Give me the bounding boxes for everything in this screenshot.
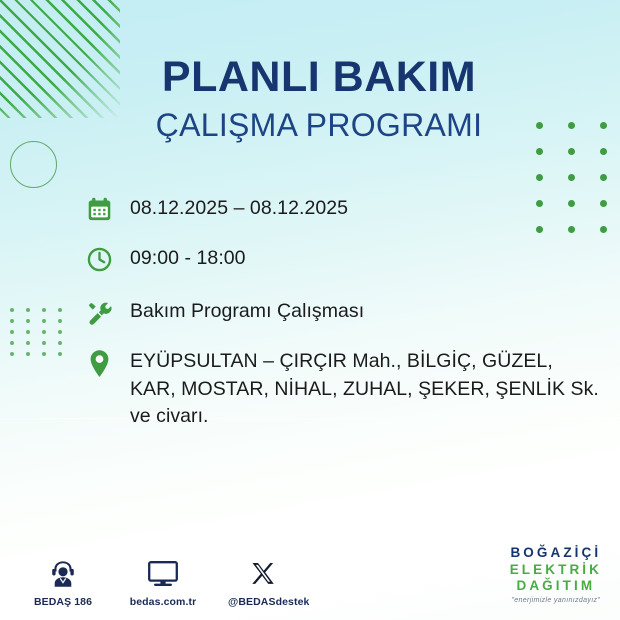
- contact-x-account[interactable]: @BEDASdestek: [228, 557, 298, 608]
- contact-phone-label: BEDAŞ 186: [28, 596, 98, 608]
- contact-website-label: bedas.com.tr: [128, 596, 198, 608]
- maintenance-time-range: 09:00 - 18:00: [130, 245, 246, 273]
- page-title: PLANLI BAKIM: [0, 56, 620, 100]
- logo-line-dagitim: DAĞITIM: [510, 578, 602, 595]
- clock-icon: [82, 245, 116, 277]
- dot-grid-left-decoration: [10, 308, 74, 363]
- logo-tagline: "enerjimizle yanınızdayız": [510, 597, 602, 604]
- maintenance-date-range: 08.12.2025 – 08.12.2025: [130, 195, 348, 223]
- planned-maintenance-poster: PLANLI BAKIM ÇALIŞMA PROGRAMI 08: [0, 0, 620, 620]
- detail-row-date: 08.12.2025 – 08.12.2025: [82, 195, 602, 227]
- page-subtitle: ÇALIŞMA PROGRAMI: [0, 107, 620, 144]
- contact-phone[interactable]: BEDAŞ 186: [28, 557, 98, 608]
- maintenance-work-type: Bakım Programı Çalışması: [130, 298, 364, 326]
- maintenance-location: EYÜPSULTAN – ÇIRÇIR Mah., BİLGİÇ, GÜZEL,…: [130, 348, 602, 431]
- detail-row-time: 09:00 - 18:00: [82, 245, 602, 277]
- tools-icon: [82, 298, 116, 330]
- logo-line-elektrik: ELEKTRİK: [510, 562, 602, 579]
- circle-outline-decoration: [10, 141, 57, 188]
- poster-heading-block: PLANLI BAKIM ÇALIŞMA PROGRAMI: [0, 56, 620, 144]
- location-pin-icon: [82, 348, 116, 380]
- calendar-icon: [82, 195, 116, 227]
- monitor-icon: [128, 557, 198, 591]
- maintenance-details-list: 08.12.2025 – 08.12.2025 09:00 - 18:00: [82, 195, 602, 448]
- contact-channels: BEDAŞ 186 bedas.com.tr: [28, 557, 298, 608]
- contact-website[interactable]: bedas.com.tr: [128, 557, 198, 608]
- headset-support-icon: [28, 557, 98, 591]
- x-twitter-icon: [228, 557, 298, 591]
- poster-footer: BEDAŞ 186 bedas.com.tr: [0, 534, 620, 620]
- detail-row-location: EYÜPSULTAN – ÇIRÇIR Mah., BİLGİÇ, GÜZEL,…: [82, 348, 602, 431]
- bedas-logo: BOĞAZİÇİ ELEKTRİK DAĞITIM "enerjimizle y…: [510, 545, 602, 604]
- contact-x-label: @BEDASdestek: [228, 596, 298, 608]
- detail-row-work-type: Bakım Programı Çalışması: [82, 298, 602, 330]
- logo-line-bogazici: BOĞAZİÇİ: [510, 545, 602, 562]
